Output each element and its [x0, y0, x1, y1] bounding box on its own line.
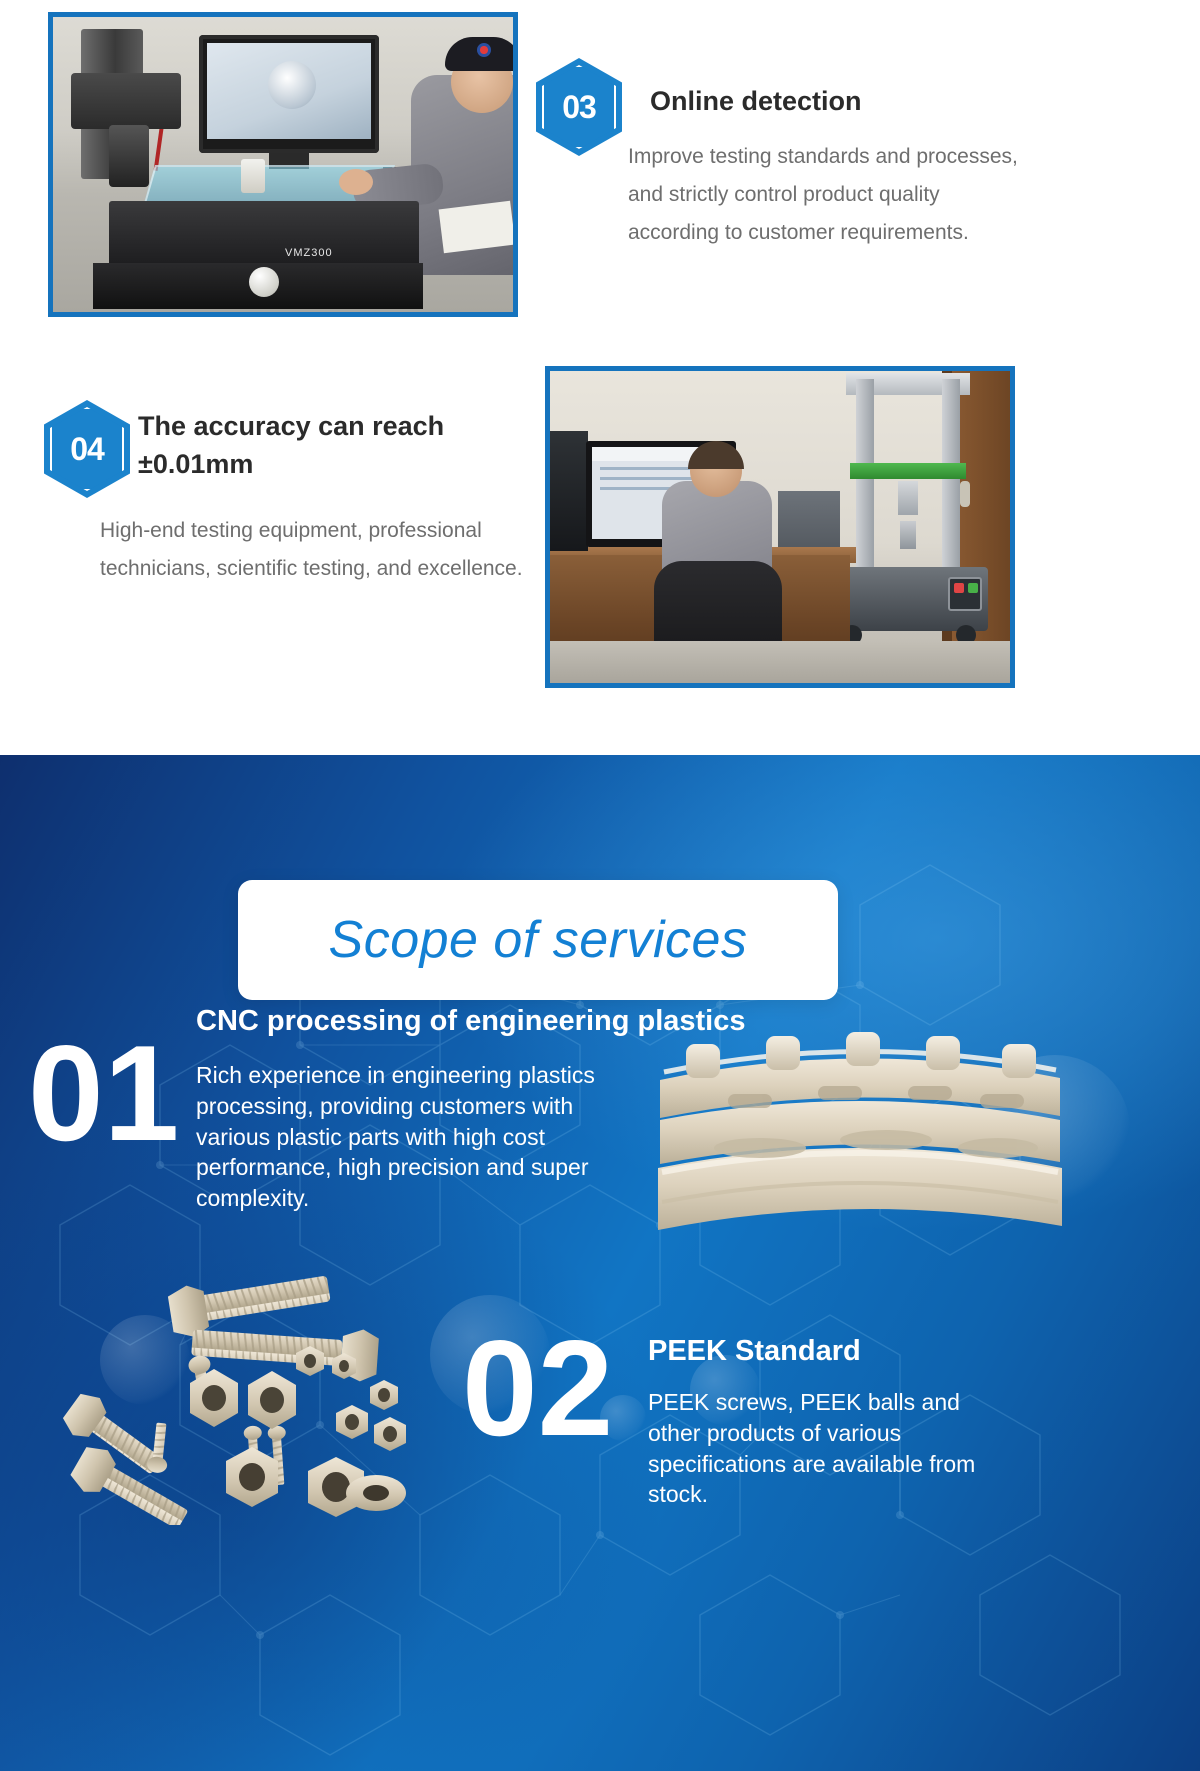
optical-lens: [109, 125, 149, 187]
screen-part-image: [268, 61, 316, 109]
handwheel: [249, 267, 279, 297]
tensile-machine-green-bar: [850, 463, 966, 479]
floor: [550, 641, 1010, 683]
feature-body-04: High-end testing equipment, professional…: [100, 512, 530, 588]
feature-title-04: The accuracy can reach ±0.01mm: [138, 407, 503, 484]
feature-badge-03: 03: [536, 58, 628, 162]
service-number-02: 02: [462, 1320, 613, 1456]
peek-chain-svg-icon: [650, 1020, 1070, 1255]
scope-title-text: Scope of services: [329, 910, 748, 970]
online-detection-photo: VMZ300: [48, 12, 518, 317]
service-body-02: PEEK screws, PEEK balls and other produc…: [648, 1387, 1018, 1510]
feature-badge-04: 04: [44, 400, 136, 504]
service-body-01: Rich experience in engineering plastics …: [196, 1060, 626, 1214]
tensile-machine-left-column: [856, 379, 874, 579]
machine-control-panel: [948, 577, 982, 611]
accuracy-testing-photo: [545, 366, 1015, 688]
operator-hand: [339, 169, 373, 195]
cap-logo-icon: [477, 43, 491, 57]
start-button-icon: [968, 583, 978, 593]
measuring-machine-head: [71, 73, 181, 129]
peek-fasteners-svg-icon: [40, 1265, 440, 1525]
service-title-02: PEEK Standard: [648, 1335, 1068, 1368]
feature-title-03: Online detection: [650, 82, 1120, 120]
door-handle: [960, 481, 970, 507]
tensile-grip-upper: [898, 481, 918, 515]
tensile-grip-lower: [900, 521, 916, 549]
badge-number-03: 03: [536, 58, 622, 156]
scope-title-card: Scope of services: [238, 880, 838, 1000]
tensile-machine-right-column: [942, 379, 960, 579]
badge-number-04: 04: [44, 400, 130, 498]
feature-body-03: Improve testing standards and processes,…: [628, 138, 1028, 253]
service-number-01: 01: [28, 1025, 179, 1161]
features-section: VMZ300 03 Online detection Improve testi…: [0, 0, 1200, 840]
peek-fasteners-photo: [40, 1265, 440, 1525]
scope-of-services-section: Scope of services 01 CNC processing of e…: [0, 755, 1200, 1771]
stop-button-icon: [954, 583, 964, 593]
peek-chain-part-photo: [650, 1020, 1070, 1255]
paper-sheet: [439, 201, 516, 253]
sample-part: [241, 159, 265, 193]
computer-tower: [550, 431, 588, 551]
machine-model-label: VMZ300: [285, 247, 333, 259]
